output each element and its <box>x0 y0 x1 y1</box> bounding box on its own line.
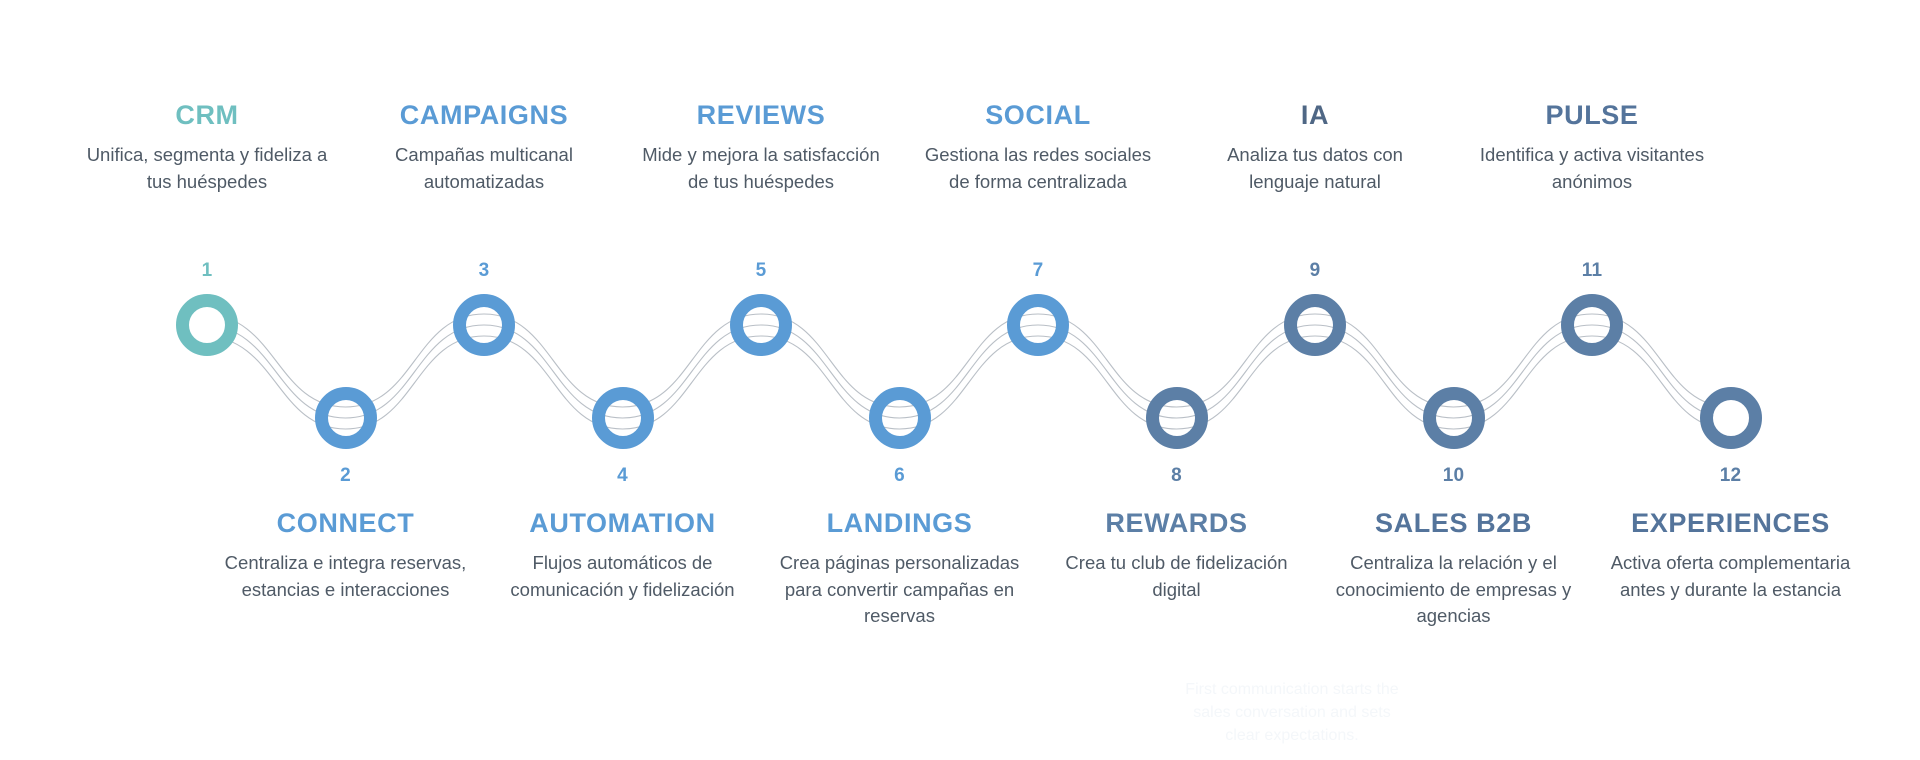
node-ring <box>453 294 515 356</box>
step-title: PULSE <box>1468 100 1716 131</box>
step-card-crm[interactable]: CRMUnifica, segmenta y fideliza a tus hu… <box>83 100 331 195</box>
step-number-11: 11 <box>1532 261 1652 280</box>
step-description: Flujos automáticos de comunicación y fid… <box>499 550 747 603</box>
node-ring <box>1284 294 1346 356</box>
ghost-watermark-text: First communication starts the sales con… <box>1177 678 1407 748</box>
step-card-social[interactable]: SOCIALGestiona las redes sociales de for… <box>914 100 1162 195</box>
step-card-connect[interactable]: CONNECTCentraliza e integra reservas, es… <box>222 508 470 603</box>
step-card-sales-b2b[interactable]: SALES B2BCentraliza la relación y el con… <box>1330 508 1578 629</box>
wave-line <box>203 314 1731 407</box>
step-node-4[interactable] <box>592 387 654 449</box>
step-number-10: 10 <box>1394 466 1514 485</box>
step-description: Crea páginas personalizadas para convert… <box>776 550 1024 629</box>
step-number-4: 4 <box>563 466 683 485</box>
node-ring <box>869 387 931 449</box>
node-ring <box>315 387 377 449</box>
step-node-2[interactable] <box>315 387 377 449</box>
step-description: Campañas multicanal automatizadas <box>360 142 608 195</box>
step-card-rewards[interactable]: REWARDSCrea tu club de fidelización digi… <box>1053 508 1301 603</box>
step-number-3: 3 <box>424 261 544 280</box>
step-title: SOCIAL <box>914 100 1162 131</box>
step-card-ia[interactable]: IAAnaliza tus datos con lenguaje natural <box>1191 100 1439 195</box>
step-number-9: 9 <box>1255 261 1375 280</box>
node-ring <box>730 294 792 356</box>
step-title: CRM <box>83 100 331 131</box>
step-card-landings[interactable]: LANDINGSCrea páginas personalizadas para… <box>776 508 1024 629</box>
step-node-9[interactable] <box>1284 294 1346 356</box>
step-description: Crea tu club de fidelización digital <box>1053 550 1301 603</box>
step-node-3[interactable] <box>453 294 515 356</box>
step-description: Mide y mejora la satisfacción de tus hué… <box>637 142 885 195</box>
step-node-7[interactable] <box>1007 294 1069 356</box>
wave-line <box>203 325 1731 418</box>
wave-line <box>203 336 1731 429</box>
step-node-1[interactable] <box>176 294 238 356</box>
step-node-5[interactable] <box>730 294 792 356</box>
node-ring <box>1423 387 1485 449</box>
step-card-experiences[interactable]: EXPERIENCESActiva oferta complementaria … <box>1607 508 1855 603</box>
step-description: Centraliza e integra reservas, estancias… <box>222 550 470 603</box>
step-number-12: 12 <box>1671 466 1791 485</box>
step-title: EXPERIENCES <box>1607 508 1855 539</box>
step-card-campaigns[interactable]: CAMPAIGNSCampañas multicanal automatizad… <box>360 100 608 195</box>
step-number-6: 6 <box>840 466 960 485</box>
step-card-pulse[interactable]: PULSEIdentifica y activa visitantes anón… <box>1468 100 1716 195</box>
node-ring <box>176 294 238 356</box>
step-node-10[interactable] <box>1423 387 1485 449</box>
node-ring <box>592 387 654 449</box>
step-node-12[interactable] <box>1700 387 1762 449</box>
step-description: Centraliza la relación y el conocimiento… <box>1330 550 1578 629</box>
node-ring <box>1146 387 1208 449</box>
step-card-automation[interactable]: AUTOMATIONFlujos automáticos de comunica… <box>499 508 747 603</box>
step-node-11[interactable] <box>1561 294 1623 356</box>
step-number-1: 1 <box>147 261 267 280</box>
step-title: SALES B2B <box>1330 508 1578 539</box>
step-description: Activa oferta complementaria antes y dur… <box>1607 550 1855 603</box>
step-title: AUTOMATION <box>499 508 747 539</box>
infographic-canvas: 123456789101112 CRMUnifica, segmenta y f… <box>0 0 1920 760</box>
step-card-reviews[interactable]: REVIEWSMide y mejora la satisfacción de … <box>637 100 885 195</box>
node-ring <box>1700 387 1762 449</box>
node-ring <box>1561 294 1623 356</box>
step-title: CAMPAIGNS <box>360 100 608 131</box>
step-description: Unifica, segmenta y fideliza a tus huésp… <box>83 142 331 195</box>
step-title: LANDINGS <box>776 508 1024 539</box>
step-description: Gestiona las redes sociales de forma cen… <box>914 142 1162 195</box>
step-title: REWARDS <box>1053 508 1301 539</box>
step-number-8: 8 <box>1117 466 1237 485</box>
step-node-8[interactable] <box>1146 387 1208 449</box>
step-title: REVIEWS <box>637 100 885 131</box>
step-description: Identifica y activa visitantes anónimos <box>1468 142 1716 195</box>
step-description: Analiza tus datos con lenguaje natural <box>1191 142 1439 195</box>
step-node-6[interactable] <box>869 387 931 449</box>
step-number-7: 7 <box>978 261 1098 280</box>
step-number-5: 5 <box>701 261 821 280</box>
step-number-2: 2 <box>286 466 406 485</box>
step-title: CONNECT <box>222 508 470 539</box>
step-title: IA <box>1191 100 1439 131</box>
node-ring <box>1007 294 1069 356</box>
